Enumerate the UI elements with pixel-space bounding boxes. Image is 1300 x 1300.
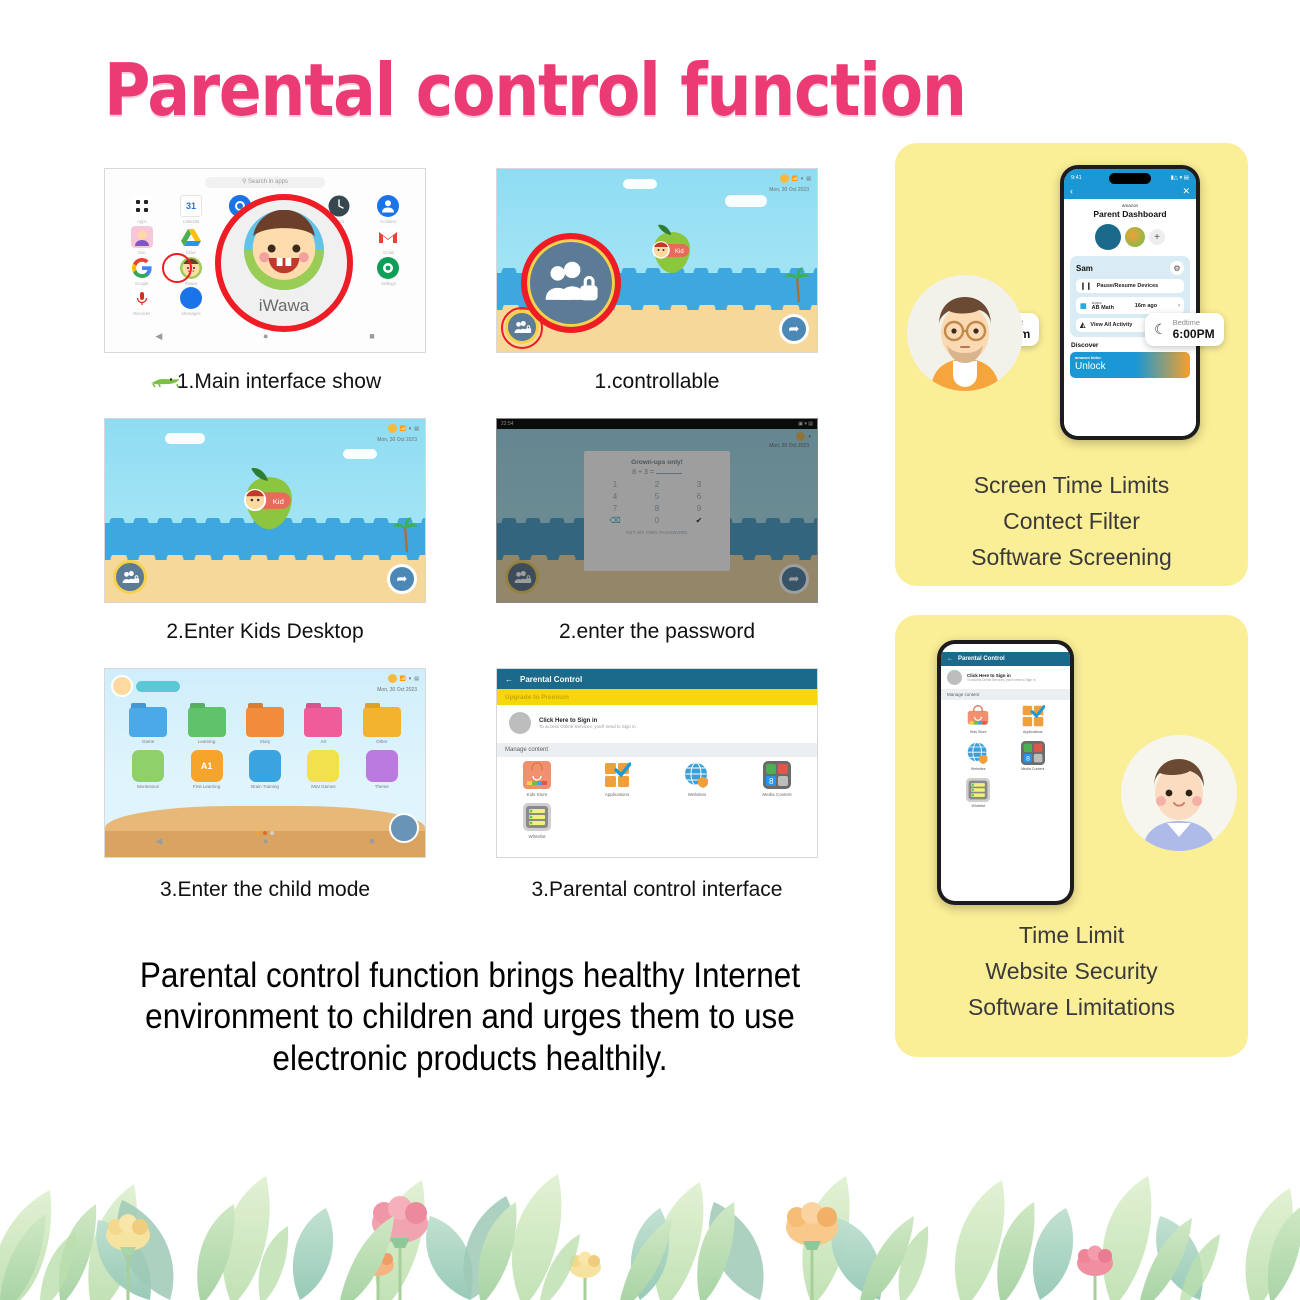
palm-tree-icon [783,264,813,304]
exit-button[interactable]: ➦ [387,564,417,594]
avatar [947,670,962,685]
cloud-icon [725,195,767,207]
cloud-icon [623,179,657,189]
palm-tree-icon [391,514,421,554]
messages-icon [180,287,202,309]
home-icon[interactable]: ● [263,836,268,846]
key-2[interactable]: 2 [636,480,678,489]
status-bar: ▾ [796,432,811,441]
status-date: Mon, 30 Oct 2023 [769,187,809,193]
folder-icon [129,707,167,737]
screenshot-parental-control-interface: ← Parental Control Upgrade to Premium Cl… [496,668,818,858]
status-bar: 📶 ▾ ▤ [388,674,419,683]
recents-icon[interactable]: ■ [369,836,374,846]
applications-icon [1021,704,1045,728]
app-item[interactable]: Recorder [117,287,166,318]
phone-mockup-parent-dashboard: 9:41 ▮△ ▾ ▤ ‹ ✕ amazon Parent Dashboard … [1060,165,1200,440]
keypad[interactable]: 1 2 3 4 5 6 7 8 9 ⌫ 0 ✔ [594,480,720,525]
password-dialog[interactable]: Grown-ups only! 8 + 3 = 1 2 3 4 5 6 7 8 … [584,451,730,571]
manage-item[interactable]: Websites [683,761,711,797]
folder-item[interactable]: Other [363,707,401,744]
signal-icon: 📶 [400,426,406,432]
avatar-sam[interactable] [1095,224,1121,250]
moon-icon: ☾ [1154,321,1167,338]
duo-icon [131,226,153,248]
app-item[interactable]: Apps [117,195,166,226]
settings-icon [377,257,399,279]
feature-list-top: Screen Time Limits Contect Filter Softwa… [895,463,1248,580]
status-icons: ▮△ ▾ ▤ [1171,175,1189,181]
manage-item-label: Applications [605,792,629,797]
pause-icon: ❙❙ [1080,282,1092,290]
app-label: Brain Training [251,784,279,789]
brain-training-icon [249,750,281,782]
app-item[interactable]: Montessori [132,750,164,789]
kids-store-icon [523,761,551,789]
manage-item-label: Applications [1023,730,1042,734]
whitelist-icon [966,778,990,802]
app-item[interactable]: Theme [366,750,398,789]
chip-label: Bedtime [1173,318,1215,327]
folder-item[interactable]: Story [246,707,284,744]
boy-avatar [1121,735,1237,851]
app-label: iWawa [185,281,197,286]
whitelist-icon [523,803,551,831]
back-chevron-icon[interactable]: ‹ [1070,186,1073,196]
wifi-icon: ▾ [801,176,804,182]
manage-item[interactable]: 8 Media Content [1021,741,1045,771]
app-item[interactable]: Google [117,257,166,288]
manage-item[interactable]: Whitelist [966,778,990,808]
dashboard-row[interactable]: ❙❙ Pause/Resume Devices [1076,279,1184,293]
folder-label: Art [321,739,327,744]
app-item-iwawa[interactable]: iWawa [166,257,215,288]
feature-item: Website Security [895,958,1248,985]
phone-mockup-parental-control: ← Parental Control Click Here to Sign in… [937,640,1074,905]
phone-screen: ← Parental Control Click Here to Sign in… [941,644,1070,901]
section-label: Manage content [941,689,1070,700]
back-arrow-icon[interactable]: ← [947,656,953,662]
back-icon[interactable]: ◀ [155,331,162,342]
status-date: Mon, 30 Oct 2023 [377,687,417,693]
dashboard-row[interactable]: ▦ Apps AB Math 16m ago › [1076,297,1184,314]
screenshot-enter-kids-desktop: 📶 ▾ ▤ Mon, 30 Oct 2023 Kid [104,418,426,603]
manage-item[interactable]: 8 Media Content [762,761,791,797]
folder-icon [246,707,284,737]
svg-text:Kid: Kid [675,249,684,255]
folder-label: Other [376,739,387,744]
screenshot-controllable: 📶 ▾ ▤ Mon, 30 Oct 2023 Kid [496,168,818,353]
manage-item[interactable]: Applications [1021,704,1045,734]
manage-item-label: Kids Store [970,730,987,734]
dialog-question: 8 + 3 = [594,469,720,476]
magnifier-ring-small [501,307,543,349]
manage-item[interactable]: Kids Store [966,704,990,734]
media-content-icon: 8 [763,761,791,789]
signal-icon: 📶 [400,676,406,682]
drive-icon [180,226,202,248]
amazon-brand-label: amazon [1064,203,1196,208]
app-item[interactable]: Drive [166,226,215,257]
avatar-secondary[interactable] [1125,227,1145,247]
manage-item[interactable]: Applications [603,761,631,797]
key-8[interactable]: 8 [636,504,678,513]
app-item[interactable]: Duo [117,226,166,257]
manage-item-label: Media Content [1021,767,1044,771]
row-label: AB Math [1092,305,1114,311]
avatar [509,712,531,734]
profile-name-pill [136,681,180,692]
folder-icon [188,707,226,737]
kid-profile-apple[interactable]: Kid [233,467,289,519]
caption-step-3: 3.Enter the child mode [104,878,426,902]
summary-paragraph: Parental control function brings healthy… [83,955,857,1079]
app-label: Apps [137,219,146,224]
caption-step-2: 2.Enter Kids Desktop [104,620,426,644]
key-6[interactable]: 6 [678,492,720,501]
folder-label: Story [260,739,271,744]
page-title: Parental control function [104,48,966,132]
timer-icon [388,424,397,433]
timer-icon [388,674,397,683]
promo-banner[interactable]: amazon kids> Unlock [1070,352,1190,378]
screenshot-child-mode: 📶 ▾ ▤ Mon, 30 Oct 2023 Game Learning Sto… [104,668,426,858]
app-label: Duo [138,250,146,255]
row-label: View All Activity [1090,322,1132,328]
status-icons: ▣ ▾ ▤ [798,421,813,427]
app-label: iWaI Games [311,784,336,789]
key-9[interactable]: 9 [678,504,720,513]
timer-icon [796,432,805,441]
folder-label: Learning [198,739,216,744]
gear-icon[interactable]: ⚙ [1170,261,1184,275]
kids-store-icon [966,704,990,728]
kids-app-grid: Game Learning Story Art Other Montessori… [119,707,411,789]
folder-item[interactable]: Game [129,707,167,744]
app-label: Calendar [183,219,200,224]
battery-icon: ▤ [414,676,419,682]
manage-item[interactable]: Whitelist [523,803,551,839]
back-icon[interactable]: ◀ [155,836,162,847]
parental-control-button[interactable] [113,560,147,594]
gmail-icon [377,226,399,248]
app-bar-title: Parental Control [958,656,1005,662]
websites-globe-icon [683,761,711,789]
games-icon [307,750,339,782]
app-item[interactable]: A1First Learning [191,750,223,789]
manage-content-grid: Kids Store Applications Websites [497,761,817,839]
signin-sub: To access Online Services, you'll need t… [539,724,636,729]
magnifier-iwawa: iWawa [215,194,353,332]
media-content-icon: 8 [1021,741,1045,765]
app-item[interactable]: Contacts [364,195,413,226]
caption-step-1b: 1.controllable [496,370,818,394]
chevron-right-icon: › [1178,303,1180,309]
signin-sub: To access Online Services, you'll need t… [967,678,1035,682]
signin-row[interactable]: Click Here to Sign in To access Online S… [497,705,817,741]
feature-item: Contect Filter [895,508,1248,535]
app-item[interactable]: Settings [364,257,413,288]
key-7[interactable]: 7 [594,504,636,513]
kid-profile-apple[interactable]: Kid [644,224,700,276]
app-bar: ← Parental Control [941,652,1070,666]
signal-icon: 📶 [792,176,798,182]
backspace-icon[interactable]: ⌫ [594,516,636,525]
parental-control-lock-icon [121,568,140,587]
caption-step-2b: 2.enter the password [496,620,818,644]
dashboard-topbar: 9:41 ▮△ ▾ ▤ ‹ ✕ [1064,169,1196,199]
feature-list-bottom: Time Limit Website Security Software Lim… [895,913,1248,1030]
manage-item-label: Media Content [762,792,791,797]
wifi-icon: ▾ [808,434,811,440]
search-input[interactable]: ⚲ Search in apps [205,177,325,188]
cloud-icon [343,449,377,459]
first-learning-icon: A1 [191,750,223,782]
status-date: Mon, 30 Oct 2023 [769,443,809,449]
contacts-icon [377,195,399,217]
poster-root: Parental control function ⚲ Search in ap… [0,0,1300,1300]
profile-header: Sam ⚙ [1076,261,1184,275]
folder-icon [363,707,401,737]
app-item[interactable]: Messages [166,287,215,318]
signin-row[interactable]: Click Here to Sign in To access Online S… [941,666,1070,688]
timer-icon [780,174,789,183]
dad-avatar [907,275,1023,391]
applications-icon [603,761,631,789]
manage-item[interactable]: Kids Store [523,761,551,797]
caption-step-1: 1.Main interface show [104,370,426,394]
home-icon[interactable]: ● [263,331,268,341]
row-label: Pause/Resume Devices [1097,283,1158,289]
feature-card-time-limit: ← Parental Control Click Here to Sign in… [895,615,1248,1057]
status-bar: 📶 ▾ ▤ [780,174,811,183]
calendar-icon: 31 [180,195,202,217]
app-label: Gmail [383,250,394,255]
wifi-icon: ▾ [409,676,412,682]
android-status-bar: 22:54 ▣ ▾ ▤ [497,419,817,429]
feature-card-screen-time: 9:41 ▮△ ▾ ▤ ‹ ✕ amazon Parent Dashboard … [895,143,1248,586]
screenshot-enter-password: 22:54 ▣ ▾ ▤ ▾ Mon, 30 Oct 2023 Grown-ups… [496,418,818,603]
parental-control-button[interactable] [505,560,539,594]
android-navbar[interactable]: ◀ ● ■ [105,324,425,348]
app-label: Messages [182,311,201,316]
theme-icon [366,750,398,782]
android-navbar[interactable]: ◀ ● ■ [105,829,425,853]
folder-label: Game [142,739,154,744]
feature-item: Software Screening [895,544,1248,571]
profile-name: Sam [1076,264,1093,273]
app-item[interactable]: Gmail [364,226,413,257]
caption-step-3b: 3.Parental control interface [496,878,818,902]
dialog-heading: Grown-ups only! [594,459,720,466]
feature-item: Screen Time Limits [895,472,1248,499]
key-0[interactable]: 0 [636,516,678,525]
recents-icon[interactable]: ■ [369,331,374,341]
chip-value: 6:00PM [1173,327,1215,341]
app-label: Recorder [133,311,150,316]
banner-text: Unlock [1075,361,1106,372]
feature-item: Software Limitations [895,994,1248,1021]
exit-button[interactable]: ➦ [779,564,809,594]
google-icon [131,257,153,279]
app-grid-icon [131,195,153,217]
app-bar: ← Parental Control [497,669,817,689]
upgrade-premium-banner[interactable]: Upgrade to Premium [497,689,817,705]
set-own-password-link[interactable]: SET MY OWN PASSWORD [594,530,720,535]
app-label: Montessori [137,784,159,789]
mic-icon [131,287,153,309]
wifi-icon: ▾ [409,426,412,432]
parental-control-lock-icon-magnified [542,254,600,312]
kid-profile[interactable] [111,675,180,697]
magnified-app-label: iWawa [259,296,309,316]
app-label: Contacts [380,219,396,224]
floral-border-decoration [0,1115,1300,1300]
dynamic-island [1109,173,1151,184]
apps-icon: ▦ [1080,302,1087,310]
app-item[interactable]: 31 Calendar [166,195,215,226]
manage-item-label: Kids Store [527,792,548,797]
status-time: 22:54 [501,421,514,427]
app-label: Google [135,281,148,286]
folder-icon [304,707,342,737]
svg-text:Kid: Kid [273,496,284,505]
parental-control-lock-icon [513,568,532,587]
app-label: Drive [186,250,196,255]
manage-content-grid: Kids Store Applications Websites [951,704,1060,808]
manage-item-label: Whitelist [528,834,545,839]
manage-item[interactable]: Websites [966,741,990,771]
exit-button[interactable]: ➦ [779,314,809,344]
app-label: First Learning [193,784,221,789]
key-1[interactable]: 1 [594,480,636,489]
key-5[interactable]: 5 [636,492,678,501]
manage-item-label: Websites [971,767,986,771]
screenshot-main-interface: ⚲ Search in apps Apps 31 Calendar Camera… [104,168,426,353]
feature-item: Time Limit [895,922,1248,949]
banner-brand: amazon kids> [1075,355,1101,360]
svg-text:8: 8 [769,777,774,786]
magnifier-ring-small [162,253,192,283]
status-bar: 📶 ▾ ▤ [388,424,419,433]
iwawa-icon-magnified [244,210,324,290]
row-time: 16m ago [1135,303,1157,309]
folder-item[interactable]: Art [304,707,342,744]
battery-icon: ▤ [806,176,811,182]
add-profile-button[interactable]: + [1149,229,1165,245]
manage-item-label: Whitelist [971,804,985,808]
profile-avatars[interactable]: + [1064,224,1196,250]
sand-background [105,560,425,602]
battery-icon: ▤ [414,426,419,432]
activity-icon: ◭ [1080,321,1085,329]
app-label: Theme [375,784,389,789]
manage-item-label: Websites [688,792,706,797]
app-item[interactable]: Brain Training [249,750,281,789]
key-4[interactable]: 4 [594,492,636,501]
websites-globe-icon [966,741,990,765]
phone-screen: 9:41 ▮△ ▾ ▤ ‹ ✕ amazon Parent Dashboard … [1064,169,1196,436]
app-bar-title: Parental Control [520,675,582,684]
cloud-icon [165,433,205,444]
section-label: Manage content [497,743,817,757]
confirm-icon[interactable]: ✔ [678,516,720,525]
dashboard-title: Parent Dashboard [1064,209,1196,219]
status-date: Mon, 30 Oct 2023 [377,437,417,443]
status-time: 9:41 [1071,175,1082,181]
montessori-icon [132,750,164,782]
app-label: Settings [381,281,396,286]
avatar [111,675,133,697]
close-icon[interactable]: ✕ [1182,186,1190,197]
app-item[interactable]: iWaI Games [307,750,339,789]
key-3[interactable]: 3 [678,480,720,489]
back-arrow-icon[interactable]: ← [505,675,513,684]
svg-text:8: 8 [1026,756,1030,763]
folder-item[interactable]: Learning [188,707,226,744]
chip-bedtime: ☾ Bedtime 6:00PM [1145,313,1224,346]
